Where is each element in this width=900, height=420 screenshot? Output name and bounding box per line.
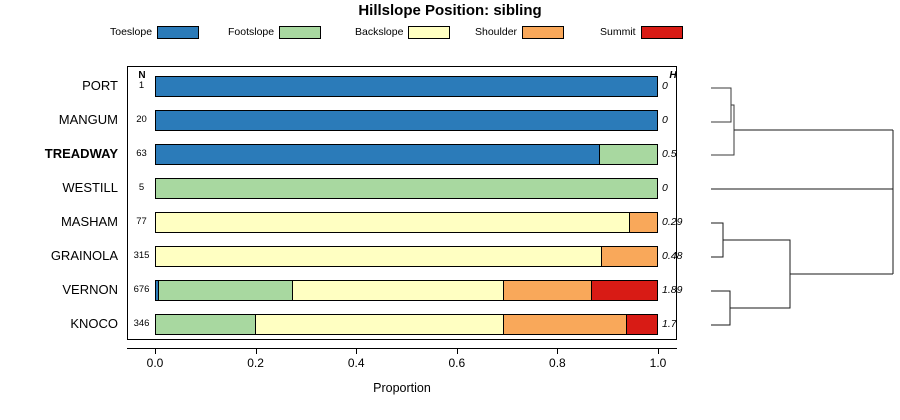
bar-segment-backslope bbox=[293, 281, 504, 300]
dendrogram bbox=[690, 60, 900, 350]
y-axis-label-masham: MASHAM bbox=[0, 205, 118, 239]
y-axis-label-knoco: KNOCO bbox=[0, 307, 118, 341]
y-axis-label-port: PORT bbox=[0, 69, 118, 103]
legend-item-footslope: Footslope bbox=[228, 24, 321, 40]
stacked-bar bbox=[155, 178, 658, 199]
n-value: 676 bbox=[129, 273, 154, 307]
bar-segment-shoulder bbox=[602, 247, 657, 266]
y-axis-label-grainola: GRAINOLA bbox=[0, 239, 118, 273]
bar-segment-footslope bbox=[159, 281, 293, 300]
legend-swatch-summit bbox=[641, 26, 683, 39]
legend-item-toeslope: Toeslope bbox=[110, 24, 199, 40]
x-tick bbox=[457, 348, 458, 354]
n-value: 1 bbox=[129, 69, 154, 103]
stacked-bar bbox=[155, 212, 658, 233]
legend-swatch-footslope bbox=[279, 26, 321, 39]
stacked-bar bbox=[155, 144, 658, 165]
legend-label: Toeslope bbox=[110, 24, 152, 40]
bar-segment-summit bbox=[592, 281, 657, 300]
x-tick-label: 0.6 bbox=[434, 356, 480, 370]
x-tick-label: 0.8 bbox=[534, 356, 580, 370]
y-axis-label-vernon: VERNON bbox=[0, 273, 118, 307]
bar-segment-toeslope bbox=[156, 111, 657, 130]
stacked-bar bbox=[155, 76, 658, 97]
x-tick-label: 1.0 bbox=[635, 356, 681, 370]
x-tick-label: 0.4 bbox=[333, 356, 379, 370]
bar-segment-toeslope bbox=[156, 77, 657, 96]
n-value: 77 bbox=[129, 205, 154, 239]
legend-item-backslope: Backslope bbox=[355, 24, 450, 40]
y-axis-label-mangum: MANGUM bbox=[0, 103, 118, 137]
bar-segment-shoulder bbox=[504, 315, 627, 334]
page-title: Hillslope Position: sibling bbox=[0, 2, 900, 19]
legend-label: Backslope bbox=[355, 24, 403, 40]
legend-item-shoulder: Shoulder bbox=[475, 24, 564, 40]
x-tick-label: 0.0 bbox=[132, 356, 178, 370]
chart-canvas: Hillslope Position: sibling ToeslopeFoot… bbox=[0, 0, 900, 420]
n-value: 315 bbox=[129, 239, 154, 273]
x-axis-line bbox=[127, 348, 677, 349]
x-tick bbox=[658, 348, 659, 354]
stacked-bar bbox=[155, 110, 658, 131]
bar-segment-shoulder bbox=[504, 281, 592, 300]
bar-segment-backslope bbox=[156, 213, 630, 232]
legend-swatch-toeslope bbox=[157, 26, 199, 39]
legend: ToeslopeFootslopeBackslopeShoulderSummit bbox=[110, 24, 790, 40]
bar-segment-shoulder bbox=[630, 213, 657, 232]
bar-segment-backslope bbox=[256, 315, 504, 334]
x-tick bbox=[356, 348, 357, 354]
bar-segment-summit bbox=[627, 315, 657, 334]
bar-segment-footslope bbox=[156, 315, 256, 334]
legend-swatch-backslope bbox=[408, 26, 450, 39]
y-axis-label-treadway: TREADWAY bbox=[0, 137, 118, 171]
legend-item-summit: Summit bbox=[600, 24, 683, 40]
bar-segment-footslope bbox=[156, 179, 657, 198]
y-axis-label-westill: WESTILL bbox=[0, 171, 118, 205]
legend-label: Footslope bbox=[228, 24, 274, 40]
n-value: 5 bbox=[129, 171, 154, 205]
x-tick bbox=[155, 348, 156, 354]
bar-segment-footslope bbox=[600, 145, 657, 164]
x-tick-label: 0.2 bbox=[233, 356, 279, 370]
bar-segment-toeslope bbox=[156, 145, 600, 164]
x-tick bbox=[557, 348, 558, 354]
x-axis-title: Proportion bbox=[127, 381, 677, 395]
n-value: 20 bbox=[129, 103, 154, 137]
legend-label: Summit bbox=[600, 24, 636, 40]
bar-segment-backslope bbox=[156, 247, 602, 266]
n-value: 346 bbox=[129, 307, 154, 341]
x-tick bbox=[256, 348, 257, 354]
legend-label: Shoulder bbox=[475, 24, 517, 40]
legend-swatch-shoulder bbox=[522, 26, 564, 39]
stacked-bar bbox=[155, 314, 658, 335]
stacked-bar bbox=[155, 246, 658, 267]
n-value: 63 bbox=[129, 137, 154, 171]
stacked-bar bbox=[155, 280, 658, 301]
